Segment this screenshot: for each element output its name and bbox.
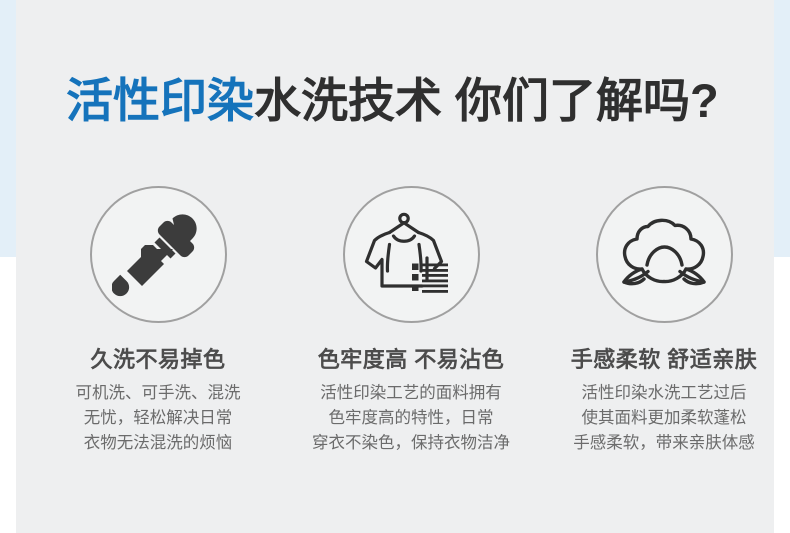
feature-body-line: 无忧，轻松解决日常 — [38, 406, 278, 431]
feature-body-line: 活性印染水洗工艺过后 — [544, 381, 784, 406]
feature-body-line: 色牢度高的特性，日常 — [291, 406, 531, 431]
feature-column-3: 手感柔软 舒适亲肤 活性印染水洗工艺过后 使其面料更加柔软蓬松 手感柔软，带来亲… — [538, 186, 790, 456]
cotton-boll-icon-circle — [596, 186, 733, 323]
feature-heading-1: 久洗不易掉色 — [90, 345, 225, 375]
dropper-icon-circle — [90, 186, 227, 323]
feature-body-line: 手感柔软，带来亲肤体感 — [544, 431, 784, 456]
dropper-icon — [112, 209, 204, 301]
shirt-icon-circle — [343, 186, 480, 323]
page-title: 活性印染水洗技术 你们了解吗? — [66, 72, 766, 130]
promo-banner: 活性印染水洗技术 你们了解吗? — [0, 0, 790, 533]
title-tail-text: 你们了解吗? — [442, 74, 719, 127]
title-main-text: 水洗技术 — [254, 74, 442, 127]
feature-heading-2: 色牢度高 不易沾色 — [318, 345, 505, 375]
feature-columns: 久洗不易掉色 可机洗、可手洗、混洗 无忧，轻松解决日常 衣物无法混洗的烦恼 — [32, 186, 790, 456]
feature-body-3: 活性印染水洗工艺过后 使其面料更加柔软蓬松 手感柔软，带来亲肤体感 — [544, 381, 784, 456]
cotton-boll-icon — [616, 215, 712, 295]
content-panel: 活性印染水洗技术 你们了解吗? — [16, 0, 774, 533]
feature-body-line: 可机洗、可手洗、混洗 — [38, 381, 278, 406]
feature-heading-3: 手感柔软 舒适亲肤 — [571, 345, 758, 375]
feature-column-2: 色牢度高 不易沾色 活性印染工艺的面料拥有 色牢度高的特性，日常 穿衣不染色，保… — [285, 186, 537, 456]
shirt-icon — [364, 211, 458, 299]
feature-body-2: 活性印染工艺的面料拥有 色牢度高的特性，日常 穿衣不染色，保持衣物洁净 — [291, 381, 531, 456]
feature-body-1: 可机洗、可手洗、混洗 无忧，轻松解决日常 衣物无法混洗的烦恼 — [38, 381, 278, 456]
feature-body-line: 衣物无法混洗的烦恼 — [38, 431, 278, 456]
feature-column-1: 久洗不易掉色 可机洗、可手洗、混洗 无忧，轻松解决日常 衣物无法混洗的烦恼 — [32, 186, 284, 456]
feature-body-line: 活性印染工艺的面料拥有 — [291, 381, 531, 406]
feature-body-line: 穿衣不染色，保持衣物洁净 — [291, 431, 531, 456]
feature-body-line: 使其面料更加柔软蓬松 — [544, 406, 784, 431]
title-accent-text: 活性印染 — [66, 74, 254, 127]
